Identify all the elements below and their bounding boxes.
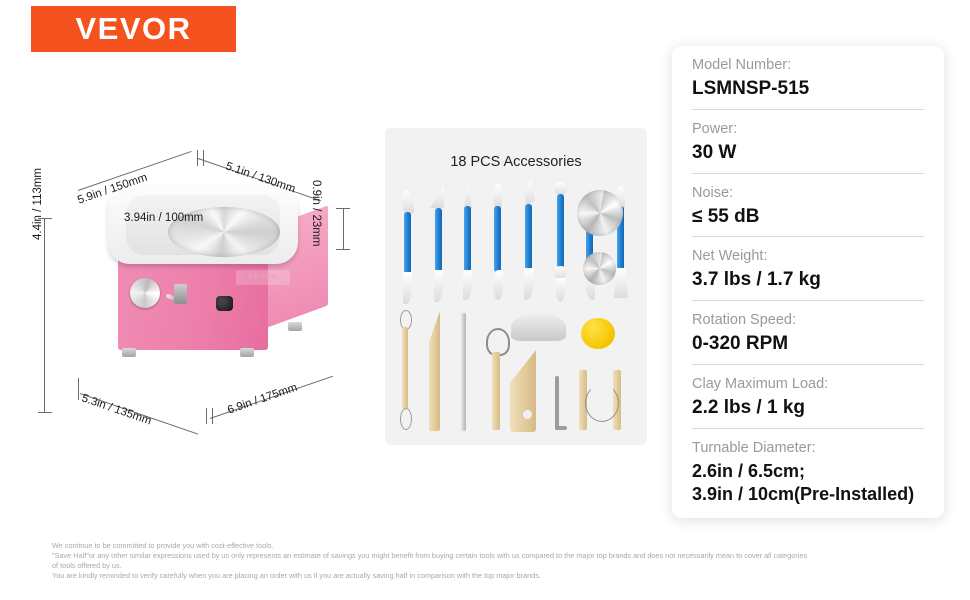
- accessory-wire-loop-tool: [398, 310, 412, 432]
- vevor-badge: VEVOR: [236, 270, 290, 285]
- product-illustration: VEVOR 5.9in / 150mm 5.1in / 130mm 3.94in…: [30, 150, 370, 440]
- tool-handle: [435, 208, 442, 272]
- spec-value: LSMNSP-515: [692, 77, 924, 101]
- tool-tip-hook: [403, 272, 412, 304]
- tool-handle: [557, 194, 564, 268]
- accessory-wire-clay-cutter: [579, 370, 623, 432]
- spec-row-rotation-speed: Rotation Speed: 0-320 RPM: [692, 301, 924, 365]
- product-infographic: VEVOR VEVOR: [0, 0, 970, 600]
- disclaimer-line-1: We continue to be committed to provide y…: [52, 541, 952, 551]
- vevor-logo: VEVOR: [31, 6, 236, 52]
- disclaimer-line-3: of tools offered by us.: [52, 561, 952, 571]
- accessory-metal-disc-large: [577, 190, 623, 236]
- splash-pan: [108, 186, 298, 264]
- accessory-metal-disc-small: [583, 252, 616, 285]
- spec-row-turnable-diameter: Turnable Diameter: 2.6in / 6.5cm; 3.9in …: [692, 429, 924, 514]
- tool-tip-flat-blade: [400, 189, 415, 215]
- power-toggle-switch: [174, 284, 187, 304]
- accessories-panel: 18 PCS Accessories: [385, 128, 647, 445]
- spec-value: ≤ 55 dB: [692, 205, 924, 229]
- dim-tick-th-bottom: [336, 249, 350, 250]
- accessory-wooden-knife: [429, 311, 440, 431]
- accessory-blue-tool-3: [461, 182, 475, 304]
- spec-value-secondary: 3.9in / 10cm(Pre-Installed): [692, 483, 924, 506]
- accessories-title: 18 PCS Accessories: [385, 154, 647, 170]
- accessory-metal-rib: [511, 313, 566, 341]
- dim-label-platter: 3.94in / 100mm: [124, 212, 203, 224]
- dim-tick-base-mid: [206, 408, 207, 424]
- tool-tip-rounded-blade: [494, 184, 502, 208]
- speed-knob: [130, 278, 160, 308]
- power-port: [216, 296, 233, 311]
- wire-loop-bottom: [400, 408, 412, 430]
- spec-label: Noise:: [692, 183, 924, 204]
- dim-tick-tray-mid: [197, 150, 198, 166]
- spec-value: 2.2 lbs / 1 kg: [692, 396, 924, 420]
- accessory-allen-key-long: [555, 376, 559, 430]
- tool-tip-taper: [556, 278, 565, 302]
- dim-label-base-depth: 6.9in / 175mm: [226, 382, 299, 417]
- tool-tip-pointed-blade: [464, 182, 472, 208]
- spec-label: Clay Maximum Load:: [692, 374, 924, 395]
- spec-row-model: Model Number: LSMNSP-515: [692, 46, 924, 110]
- tool-tip-leaf-blade: [523, 180, 535, 206]
- tool-handle: [525, 204, 532, 270]
- accessory-allen-key-short: [555, 426, 567, 430]
- footer-disclaimer: We continue to be committed to provide y…: [52, 541, 952, 581]
- foot-left: [122, 348, 136, 357]
- spec-value: 2.6in / 6.5cm;: [692, 460, 924, 483]
- spec-value: 30 W: [692, 141, 924, 165]
- accessory-blue-tool-2: [430, 186, 446, 306]
- tool-tip-spoon: [493, 270, 503, 300]
- tool-tip-hook: [434, 270, 443, 302]
- accessory-wire-loop-trimmer: [485, 328, 507, 432]
- dim-label-base-width: 5.3in / 135mm: [80, 392, 153, 427]
- tool-tip-angled-blade: [430, 186, 444, 208]
- accessory-metal-needle-tool: [461, 313, 466, 431]
- specifications-card: Model Number: LSMNSP-515 Power: 30 W Noi…: [672, 46, 944, 518]
- spec-label: Model Number:: [692, 55, 924, 76]
- spec-label: Power:: [692, 119, 924, 140]
- spec-row-power: Power: 30 W: [692, 110, 924, 174]
- tool-handle: [404, 212, 411, 274]
- spec-value: 0-320 RPM: [692, 332, 924, 356]
- spec-label: Rotation Speed:: [692, 310, 924, 331]
- disclaimer-line-2: "Save Half"or any other similar expressi…: [52, 551, 952, 561]
- dim-tick-base-left: [78, 378, 79, 400]
- dim-tick-th-top: [336, 208, 350, 209]
- tool-handle: [494, 206, 501, 272]
- wheel-front-panel: VEVOR: [118, 250, 268, 350]
- disclaimer-line-4: You are kindly reminded to verify carefu…: [52, 571, 952, 581]
- cutter-wire: [585, 384, 619, 422]
- dim-tick-left-bottom: [38, 412, 52, 413]
- accessory-blue-tool-1: [400, 190, 414, 305]
- dim-line-tray-height: [343, 208, 344, 250]
- accessory-blue-tool-4: [491, 184, 505, 306]
- accessory-yellow-sponge: [581, 318, 615, 349]
- wooden-shaft: [402, 327, 408, 409]
- dim-line-left: [44, 218, 45, 413]
- vevor-badge-text: VEVOR: [248, 274, 278, 281]
- dim-label-tray-height: 0.9in / 23mm: [310, 180, 322, 246]
- tool-tip-hook: [524, 268, 534, 300]
- foot-right: [240, 348, 254, 357]
- logo-text: VEVOR: [75, 11, 191, 47]
- wooden-handle: [492, 352, 500, 430]
- dim-tick-base-mid2: [212, 408, 213, 424]
- foot-back: [288, 322, 302, 331]
- accessory-blue-tool-6: [552, 182, 568, 306]
- dim-label-body-height: 4.4in / 113mm: [32, 168, 44, 240]
- spec-label: Net Weight:: [692, 246, 924, 267]
- wooden-rib-hole: [523, 410, 532, 419]
- tool-tip-hook: [463, 270, 472, 300]
- splash-pan-inner: [126, 195, 280, 255]
- accessory-blue-tool-5: [521, 180, 537, 306]
- spec-label: Turnable Diameter:: [692, 438, 924, 459]
- spec-row-noise: Noise: ≤ 55 dB: [692, 174, 924, 238]
- spec-value: 3.7 lbs / 1.7 kg: [692, 268, 924, 292]
- accessory-wooden-rib: [510, 350, 536, 432]
- tool-handle: [464, 206, 471, 272]
- dim-tick-tray-mid2: [203, 150, 204, 166]
- spec-row-clay-max-load: Clay Maximum Load: 2.2 lbs / 1 kg: [692, 365, 924, 429]
- tool-tip-wedge: [614, 268, 628, 298]
- spec-row-net-weight: Net Weight: 3.7 lbs / 1.7 kg: [692, 237, 924, 301]
